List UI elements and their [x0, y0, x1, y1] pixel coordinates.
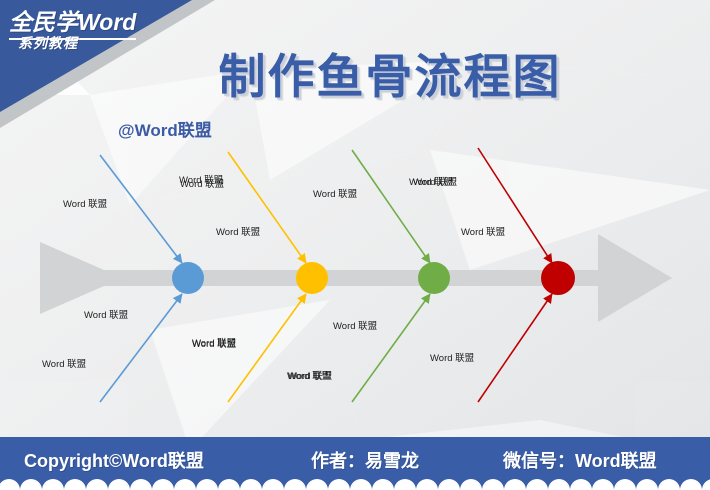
slide-canvas: 全民学Word 系列教程 制作鱼骨流程图 @Word联盟 [0, 0, 710, 490]
brand-subtitle: 系列教程 [18, 33, 78, 53]
fishbone-diagram [0, 130, 710, 425]
footer-author: 作者：易雪龙 [311, 447, 419, 473]
fish-tail-fin [40, 242, 104, 314]
bone-red-lower [478, 294, 552, 402]
bone-label: Word 联盟 [430, 350, 474, 364]
bone-red-upper [478, 148, 552, 263]
bone-label: Word 联盟 [461, 224, 505, 238]
bone-green-upper [352, 150, 430, 263]
bone-label: Word 联盟 [180, 176, 224, 190]
bone-label: Word 联盟 [216, 224, 260, 238]
bone-label: Word 联盟 [63, 196, 107, 210]
footer-bar: Copyright©Word联盟 作者：易雪龙 微信号：Word联盟 [0, 437, 710, 490]
bone-label: Word 联盟 [287, 368, 331, 382]
bone-blue-upper [100, 155, 182, 263]
bone-yellow-lower [228, 294, 306, 402]
node-yellow[interactable] [296, 262, 328, 294]
bone-label: Word 联盟 [413, 174, 457, 188]
bone-green-lower [352, 294, 430, 402]
bone-label: Word 联盟 [333, 318, 377, 332]
fish-head-arrow [598, 234, 672, 322]
node-blue[interactable] [172, 262, 204, 294]
footer-scallop-edge [0, 476, 710, 490]
bone-label: Word 联盟 [192, 336, 236, 350]
node-red[interactable] [541, 261, 575, 295]
bone-label: Word 联盟 [84, 307, 128, 321]
bone-label: Word 联盟 [42, 356, 86, 370]
footer-wechat: 微信号：Word联盟 [503, 447, 657, 473]
footer-copyright: Copyright©Word联盟 [24, 447, 204, 473]
bone-yellow-upper [228, 152, 306, 263]
bone-label: Word 联盟 [313, 186, 357, 200]
node-green[interactable] [418, 262, 450, 294]
page-title: 制作鱼骨流程图 [190, 38, 590, 107]
